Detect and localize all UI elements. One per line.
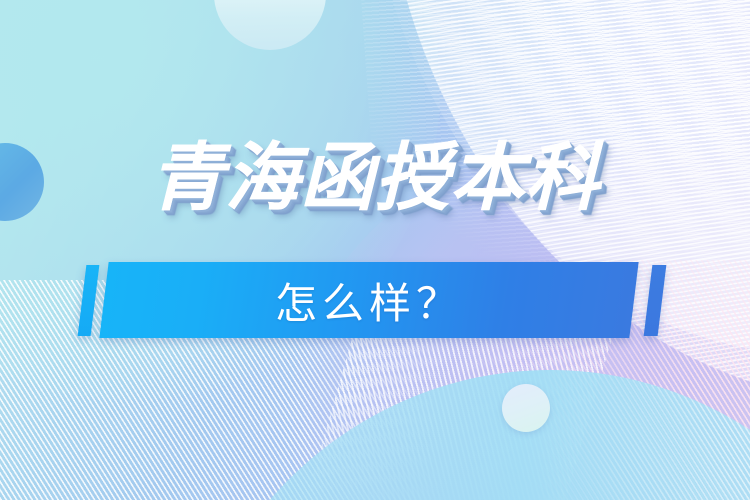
- curved-swoosh-right: [389, 0, 750, 474]
- curved-swoosh-bottom-hatch: [170, 370, 750, 500]
- page-title: 青海函授本科: [150, 141, 600, 215]
- promo-banner-image: 青海函授本科 怎么样？: [0, 0, 750, 500]
- headline-container: 青海函授本科: [0, 141, 750, 215]
- decorative-circle-bottom: [502, 384, 550, 432]
- curved-swoosh-bottom: [170, 370, 750, 500]
- subtitle-banner-group: 怎么样？: [0, 262, 750, 342]
- background-decoration-layer: [0, 0, 750, 500]
- banner-right-accent-stripe: [644, 265, 667, 336]
- subtitle-text: 怎么样？: [104, 262, 634, 338]
- banner-left-accent-stripe: [78, 265, 100, 336]
- decorative-circle-top: [214, 0, 326, 50]
